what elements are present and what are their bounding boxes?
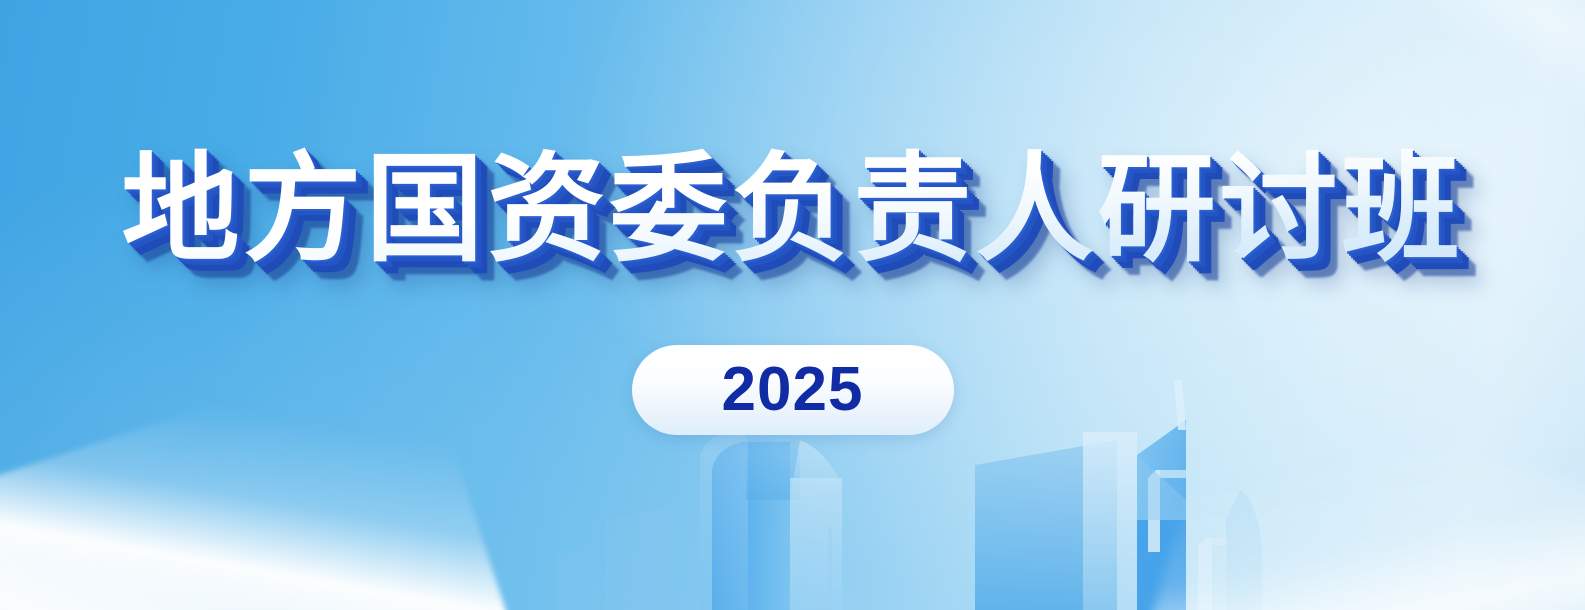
conference-banner: 地方国资委负责人研讨班 2025 xyxy=(0,0,1585,610)
year-badge-label: 2025 xyxy=(722,359,864,421)
year-badge: 2025 xyxy=(632,345,954,435)
white-swoosh-bottom-left-highlight-icon xyxy=(0,422,476,610)
city-skyline-graphic xyxy=(0,0,1585,610)
page-title: 地方国资委负责人研讨班 xyxy=(121,146,1463,273)
year-badge-container: 2025 xyxy=(0,345,1585,435)
banner-title-container: 地方国资委负责人研讨班 xyxy=(0,146,1585,273)
light-ray-top-right-secondary-icon xyxy=(1112,0,1585,143)
skyline-group-center xyxy=(700,430,842,610)
light-ray-top-right-icon xyxy=(971,0,1585,79)
skyline-group-left xyxy=(556,505,668,610)
skyline-group-far-right xyxy=(1198,490,1262,610)
background-glow-wash xyxy=(0,0,1585,610)
